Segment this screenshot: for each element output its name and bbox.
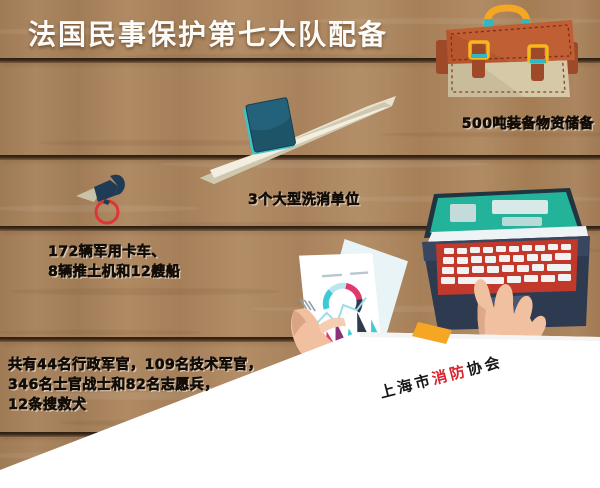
caption-storage: 500吨装备物资储备 (462, 114, 594, 134)
caption-personnel: 共有44名行政军官，109名技术军官， 346名士官战士和82名志愿兵， 12条… (8, 355, 262, 415)
keys-illustration (74, 172, 136, 226)
briefcase-illustration (432, 2, 582, 106)
boat-illustration (196, 92, 401, 192)
plank-divider (0, 432, 600, 437)
report-papers-and-hand (288, 238, 423, 398)
caption-decon: 3个大型洗消单位 (248, 190, 360, 210)
page-title: 法国民事保护第七大队配备 (28, 16, 428, 54)
infographic-poster: 法国民事保护第七大队配备 (0, 0, 600, 488)
caption-vehicles: 172辆军用卡车、 8辆推土机和12艘船 (48, 242, 180, 282)
